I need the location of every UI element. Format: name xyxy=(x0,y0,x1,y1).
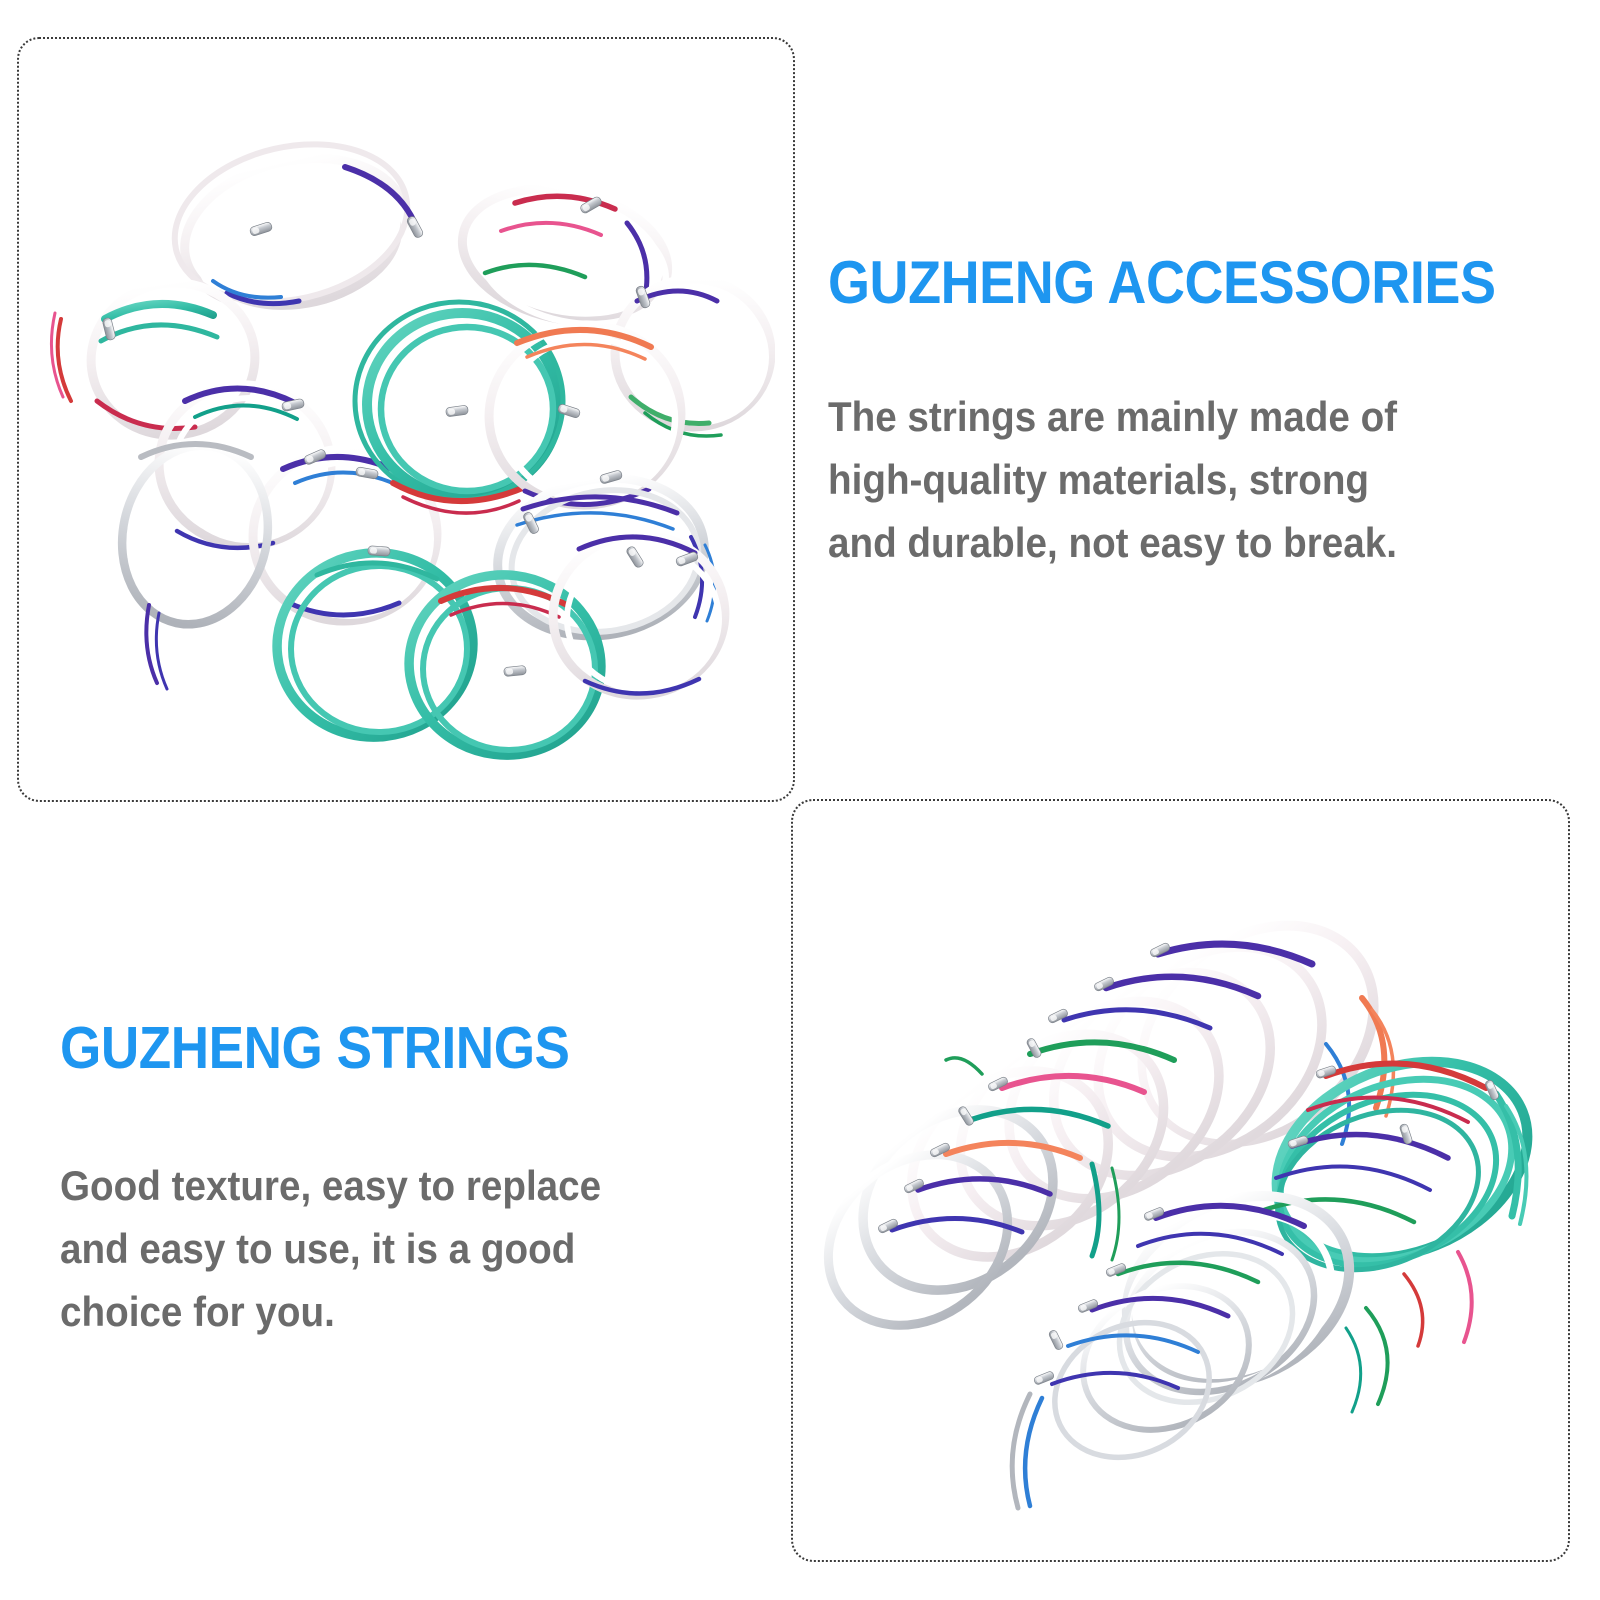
strings-description-line-1: Good texture, easy to replace xyxy=(60,1154,704,1217)
accessories-text-block: GUZHENG ACCESSORIES The strings are main… xyxy=(828,252,1558,574)
product-photo-fanned-string-sets xyxy=(806,838,1558,1538)
accessories-description: The strings are mainly made of high-qual… xyxy=(828,385,1500,574)
product-photo-coiled-strings-pile xyxy=(45,105,775,765)
accessories-description-line-2: high-quality materials, strong xyxy=(828,448,1500,511)
accessories-description-line-1: The strings are mainly made of xyxy=(828,385,1500,448)
strings-description-line-2: and easy to use, it is a good xyxy=(60,1217,704,1280)
accessories-description-line-3: and durable, not easy to break. xyxy=(828,511,1500,574)
strings-heading: GUZHENG STRINGS xyxy=(60,1018,690,1078)
accessories-heading: GUZHENG ACCESSORIES xyxy=(828,252,1485,313)
strings-text-block: GUZHENG STRINGS Good texture, easy to re… xyxy=(60,1018,760,1343)
strings-description: Good texture, easy to replace and easy t… xyxy=(60,1154,704,1343)
strings-description-line-3: choice for you. xyxy=(60,1280,704,1343)
infographic-canvas: GUZHENG ACCESSORIES The strings are main… xyxy=(0,0,1600,1600)
